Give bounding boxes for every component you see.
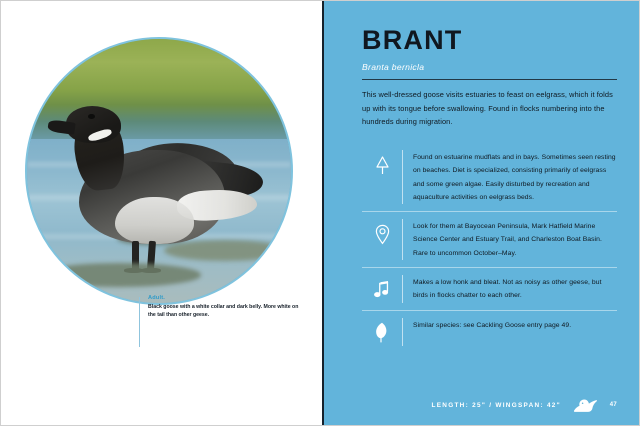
caption-title: Adult. xyxy=(148,295,299,301)
bird-silhouette-icon xyxy=(571,397,597,413)
title-divider xyxy=(362,79,617,80)
fact-divider xyxy=(402,219,403,260)
goose-illustration xyxy=(48,102,270,271)
page-title: BRANT xyxy=(362,27,617,54)
fact-row-similar-species: Similar species: see Cackling Goose entr… xyxy=(362,310,617,353)
page-footer: LENGTH: 25" / WINGSPAN: 42" 47 xyxy=(324,397,639,413)
fact-divider xyxy=(402,318,403,346)
fact-text-voice: Makes a low honk and bleat. Not as noisy… xyxy=(413,275,617,303)
map-pin-icon xyxy=(362,219,402,247)
fact-row-habitat: Found on estuarine mudflats and in bays.… xyxy=(362,143,617,211)
music-note-icon xyxy=(362,275,402,303)
fact-list: Found on estuarine mudflats and in bays.… xyxy=(362,143,617,353)
fact-row-voice: Makes a low honk and bleat. Not as noisy… xyxy=(362,267,617,310)
caption-body: Black goose with a white collar and dark… xyxy=(148,303,299,319)
fact-text-similar-species: Similar species: see Cackling Goose entr… xyxy=(413,318,617,332)
fact-divider xyxy=(402,275,403,303)
brant-goose-photo xyxy=(25,37,293,305)
book-spread: Adult. Black goose with a white collar a… xyxy=(0,0,640,426)
measurements-label: LENGTH: 25" / WINGSPAN: 42" xyxy=(432,402,561,409)
conifer-tree-icon xyxy=(362,150,402,178)
intro-paragraph: This well-dressed goose visits estuaries… xyxy=(362,88,617,129)
fact-text-habitat: Found on estuarine mudflats and in bays.… xyxy=(413,150,617,204)
photo-inner xyxy=(27,39,291,303)
leaf-icon xyxy=(362,318,402,346)
scientific-name: Branta bernicla xyxy=(362,62,617,72)
page-number: 47 xyxy=(607,402,617,408)
left-photo-page: Adult. Black goose with a white collar a… xyxy=(1,1,322,425)
fact-row-where-to-find: Look for them at Bayocean Peninsula, Mar… xyxy=(362,211,617,267)
fact-divider xyxy=(402,150,403,204)
right-info-page: BRANT Branta bernicla This well-dressed … xyxy=(324,1,639,425)
caption-divider xyxy=(139,297,140,347)
photo-caption: Adult. Black goose with a white collar a… xyxy=(139,295,299,347)
fact-text-where-to-find: Look for them at Bayocean Peninsula, Mar… xyxy=(413,219,617,260)
